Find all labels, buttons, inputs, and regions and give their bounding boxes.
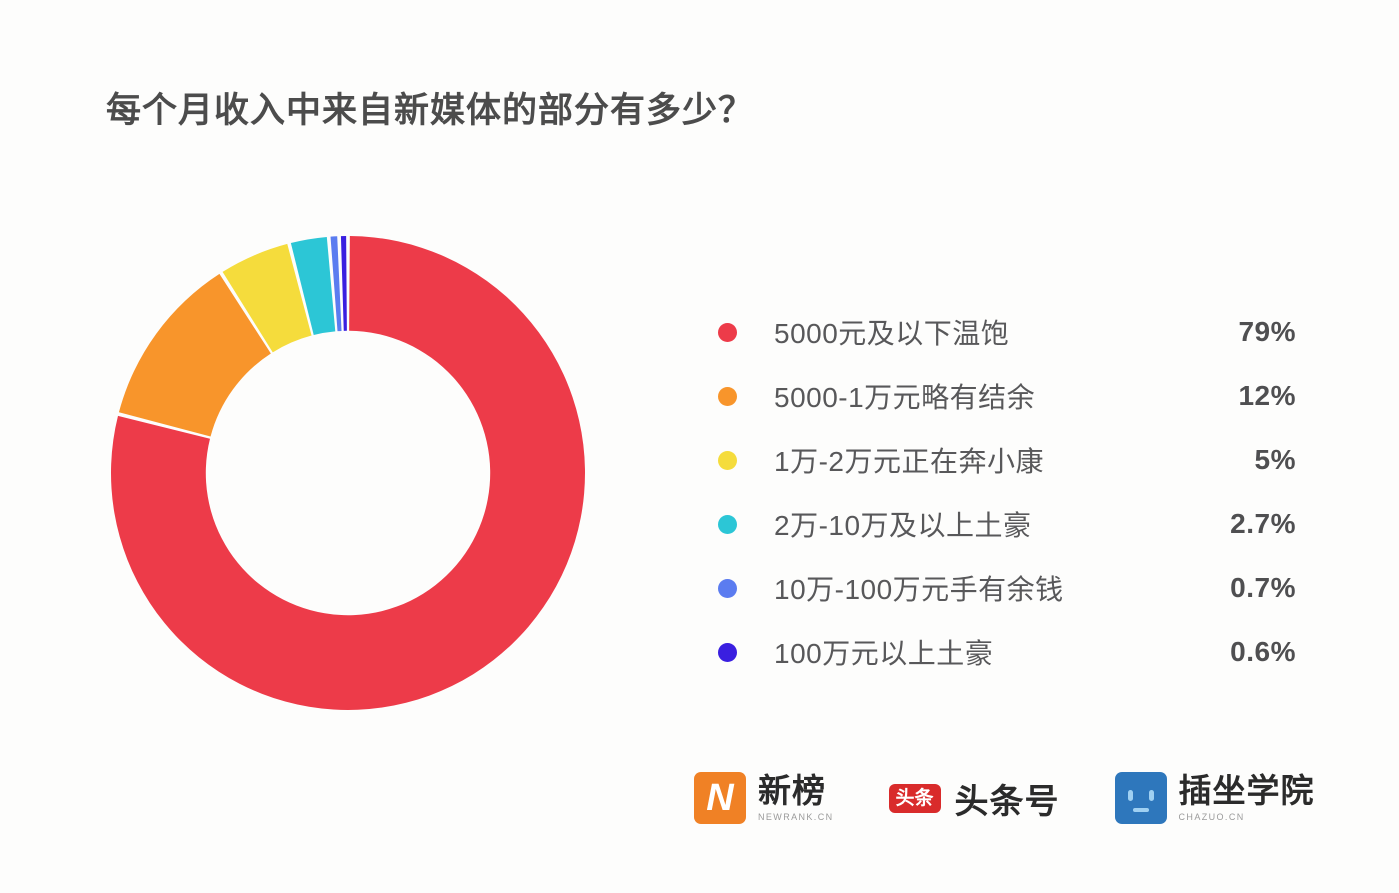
legend-item[interactable]: 2万-10万及以上土豪2.7% xyxy=(712,492,1302,556)
logo-chazuo: 插坐学院 CHAZUO.CN xyxy=(1115,772,1315,824)
newrank-logo-icon: N xyxy=(694,772,746,824)
legend-item-label: 10万-100万元手有余钱 xyxy=(774,568,1064,608)
donut-slice-group xyxy=(111,236,585,710)
face-mouth-icon xyxy=(1133,808,1149,812)
chart-legend: 5000元及以下温饱79%5000-1万元略有结余12%1万-2万元正在奔小康5… xyxy=(712,300,1302,684)
legend-item[interactable]: 5000元及以下温饱79% xyxy=(712,300,1302,364)
newrank-subtitle: NEWRANK.CN xyxy=(758,812,834,822)
legend-item[interactable]: 1万-2万元正在奔小康5% xyxy=(712,428,1302,492)
legend-item[interactable]: 5000-1万元略有结余12% xyxy=(712,364,1302,428)
legend-item-value: 12% xyxy=(1238,380,1296,412)
donut-chart xyxy=(110,235,586,711)
chazuo-subtitle: CHAZUO.CN xyxy=(1179,812,1315,822)
toutiao-badge-icon: 头条 xyxy=(889,784,941,813)
legend-item-value: 79% xyxy=(1238,316,1296,348)
legend-color-dot-icon xyxy=(718,643,737,662)
legend-item-label: 2万-10万及以上土豪 xyxy=(774,504,1032,544)
logo-toutiao: 头条 头条号 xyxy=(889,774,1060,823)
footer-logos: N 新榜 NEWRANK.CN 头条 头条号 插坐学院 CHAZUO.CN xyxy=(694,772,1315,824)
newrank-name: 新榜 xyxy=(758,774,834,809)
legend-color-dot-icon xyxy=(718,451,737,470)
legend-item-label: 5000元及以下温饱 xyxy=(774,312,1009,352)
face-right-eye-icon xyxy=(1149,790,1154,801)
face-left-eye-icon xyxy=(1128,790,1133,801)
toutiao-name: 头条号 xyxy=(955,774,1060,823)
page-title: 每个月收入中来自新媒体的部分有多少？ xyxy=(106,82,754,133)
legend-item-label: 5000-1万元略有结余 xyxy=(774,376,1035,416)
legend-item-value: 0.6% xyxy=(1230,636,1296,668)
chazuo-logo-icon xyxy=(1115,772,1167,824)
newrank-mark-letter: N xyxy=(694,772,746,824)
donut-chart-svg xyxy=(110,235,586,711)
newrank-text-group: 新榜 NEWRANK.CN xyxy=(758,774,834,822)
legend-item[interactable]: 100万元以上土豪0.6% xyxy=(712,620,1302,684)
legend-item-value: 0.7% xyxy=(1230,572,1296,604)
legend-color-dot-icon xyxy=(718,387,737,406)
legend-item-label: 1万-2万元正在奔小康 xyxy=(774,440,1044,480)
legend-color-dot-icon xyxy=(718,579,737,598)
legend-item-value: 2.7% xyxy=(1230,508,1296,540)
legend-color-dot-icon xyxy=(718,323,737,342)
legend-color-dot-icon xyxy=(718,515,737,534)
legend-item-value: 5% xyxy=(1255,444,1296,476)
logo-newrank: N 新榜 NEWRANK.CN xyxy=(694,772,834,824)
donut-slice[interactable] xyxy=(341,236,347,331)
legend-item[interactable]: 10万-100万元手有余钱0.7% xyxy=(712,556,1302,620)
chazuo-name: 插坐学院 xyxy=(1179,774,1315,809)
legend-item-label: 100万元以上土豪 xyxy=(774,632,993,672)
chazuo-text-group: 插坐学院 CHAZUO.CN xyxy=(1179,774,1315,822)
